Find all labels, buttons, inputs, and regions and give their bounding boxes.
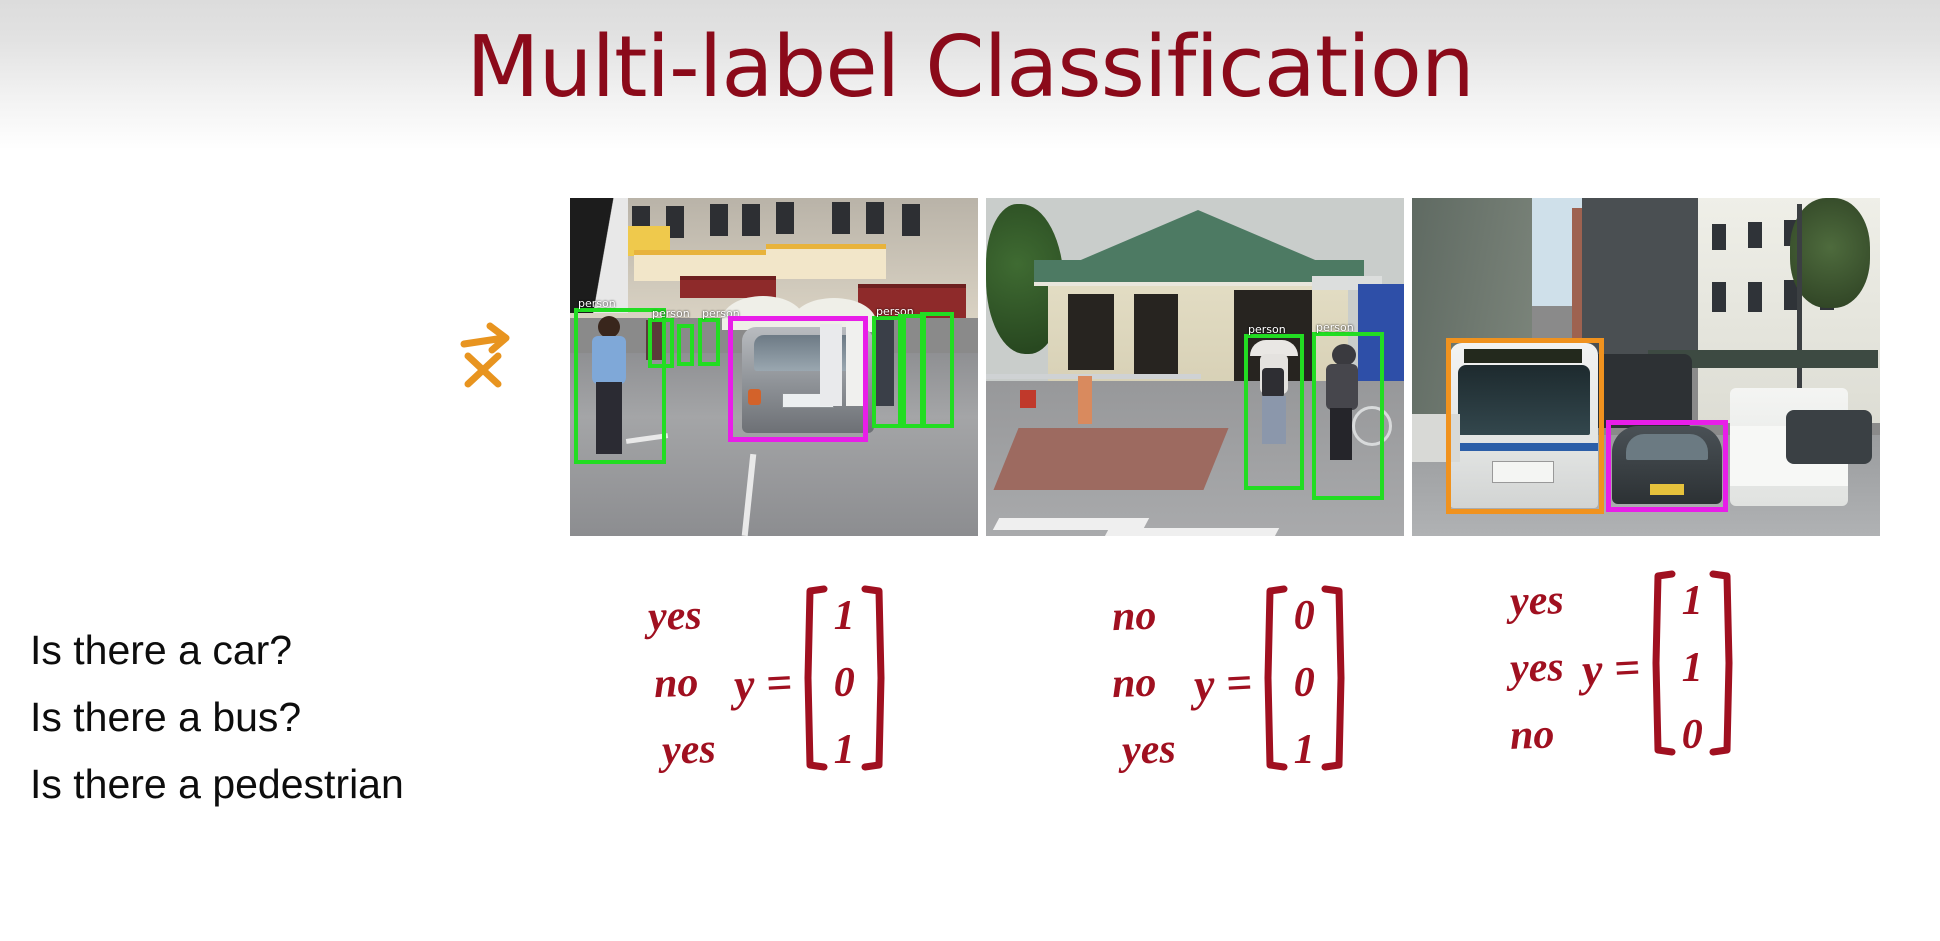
y-vector-2: 0 0 1 [1262, 583, 1347, 784]
x-vector-arrow-icon [452, 322, 522, 392]
vector-value: 1 [1294, 717, 1315, 784]
window [1748, 222, 1762, 248]
right-bracket-icon [861, 583, 887, 773]
window [866, 202, 884, 234]
vector-value: 0 [834, 650, 855, 717]
answer-car-3: yes [1509, 567, 1565, 636]
dark-building [1582, 198, 1702, 358]
right-bracket-icon [1709, 568, 1735, 758]
answer-words-3: yes yes no [1510, 568, 1564, 769]
answer-group-2: no no yes y = 0 0 1 [1112, 583, 1347, 784]
window [902, 204, 920, 236]
bbox-person[interactable]: person [698, 318, 720, 366]
vector-value: 0 [1682, 702, 1703, 769]
object [1020, 390, 1036, 408]
left-bracket-icon [1262, 583, 1288, 773]
vector-values-1: 1 0 1 [828, 583, 861, 784]
left-bracket-icon [1650, 568, 1676, 758]
bbox-person[interactable]: person [648, 318, 674, 368]
window [832, 202, 850, 234]
question-bus: Is there a bus? [30, 684, 404, 751]
question-car: Is there a car? [30, 617, 404, 684]
bbox-person[interactable]: person [1312, 332, 1384, 500]
page-title: Multi-label Classification [0, 18, 1940, 117]
awning [680, 276, 776, 298]
right-bracket-icon [1321, 583, 1347, 773]
window [742, 204, 760, 236]
bbox-car[interactable] [1606, 420, 1728, 512]
vector-value: 1 [1682, 635, 1703, 702]
y-vector-1: 1 0 1 [802, 583, 887, 784]
traffic-cone [1078, 376, 1092, 424]
window [1748, 282, 1762, 312]
vector-value: 1 [834, 583, 855, 650]
tree [1790, 198, 1870, 308]
vector-value: 0 [1294, 650, 1315, 717]
y-equals-label-2: y = [1192, 656, 1253, 712]
vector-values-3: 1 1 0 [1676, 568, 1709, 769]
bbox-label: person [578, 297, 616, 310]
vector-value: 1 [834, 717, 855, 784]
y-equals-label-1: y = [732, 656, 793, 712]
window [710, 204, 728, 236]
example-image-3[interactable] [1412, 198, 1880, 536]
slide-canvas: Multi-label Classification [0, 0, 1940, 941]
y-vector-3: 1 1 0 [1650, 568, 1735, 769]
parked-car [1786, 410, 1872, 464]
answer-bus-1: no [653, 649, 717, 718]
door [1068, 294, 1114, 370]
bbox-label: person [652, 307, 690, 320]
bbox-label: person [1316, 321, 1354, 334]
parked-truck [570, 198, 628, 313]
bbox-bus[interactable] [1446, 338, 1604, 514]
vector-values-2: 0 0 1 [1288, 583, 1321, 784]
answer-car-2: no [1111, 582, 1177, 651]
question-pedestrian: Is there a pedestrian [30, 751, 404, 818]
answer-words-2: no no yes [1112, 583, 1176, 784]
bbox-car[interactable] [728, 316, 868, 442]
question-list: Is there a car? Is there a bus? Is there… [30, 617, 404, 818]
answer-bus-2: no [1111, 649, 1177, 718]
window [1712, 224, 1726, 250]
answer-group-3: yes yes no y = 1 1 0 [1510, 568, 1735, 769]
vector-value: 0 [1294, 583, 1315, 650]
example-image-strip: person person person person [570, 198, 1880, 536]
brick-pavement [993, 428, 1228, 490]
awning [766, 244, 886, 279]
y-equals-label-3: y = [1580, 641, 1641, 697]
window [776, 202, 794, 234]
answer-car-1: yes [647, 582, 717, 651]
answer-pedestrian-1: yes [661, 716, 717, 785]
bbox-label: person [1248, 323, 1286, 336]
answer-pedestrian-2: yes [1121, 716, 1177, 785]
answer-words-1: yes no yes [648, 583, 716, 784]
answer-pedestrian-3: no [1509, 701, 1565, 770]
window [1712, 282, 1726, 312]
example-image-2[interactable]: person person [986, 198, 1404, 536]
door [1134, 294, 1178, 374]
crosswalk-stripe [1103, 528, 1279, 536]
bbox-person[interactable]: person [1244, 334, 1304, 490]
left-bracket-icon [802, 583, 828, 773]
example-image-1[interactable]: person person person person [570, 198, 978, 536]
bbox-person[interactable] [920, 312, 954, 428]
guard-rail [986, 374, 1201, 379]
bbox-person[interactable] [677, 324, 694, 366]
answer-bus-3: yes [1509, 634, 1565, 703]
vector-value: 1 [1682, 568, 1703, 635]
answer-group-1: yes no yes y = 1 0 1 [648, 583, 887, 784]
